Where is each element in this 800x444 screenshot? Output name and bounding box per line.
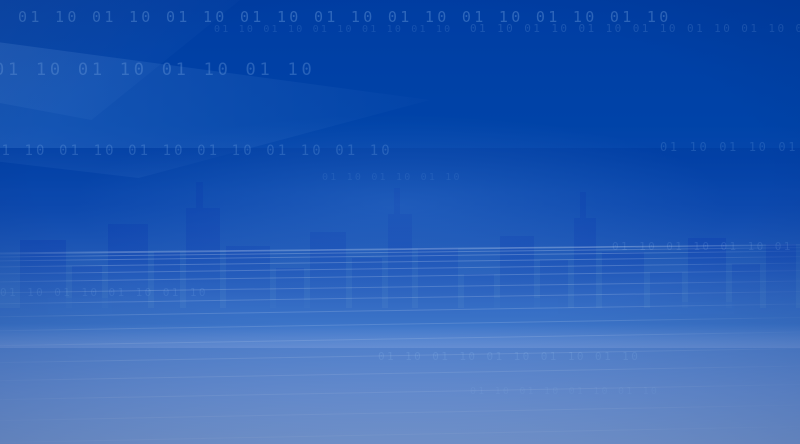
grid-line-4 (0, 347, 800, 364)
grid-line-16 (0, 244, 800, 254)
grid-line-7 (0, 302, 800, 317)
headline-line-2-prefix: 区域 (37, 175, 132, 226)
binary-pattern-layer: 01 10 01 10 01 10 01 10 01 10 01 10 01 1… (0, 0, 800, 444)
grid-line-13 (0, 250, 800, 262)
headline-line-1: 宁夏系统构建 (235, 78, 565, 132)
headline-line-2: 区域 经济高质量发展 新格局 (37, 160, 763, 226)
headline-block: 宁夏系统构建 区域 经济高质量发展 新格局 政策体系 (0, 0, 800, 444)
grid-line-15 (0, 244, 800, 255)
headline-line-2-suffix: 新格局 (620, 175, 762, 226)
binary-row-0: 01 10 01 10 01 10 01 10 01 10 01 10 01 1… (18, 8, 672, 26)
light-wedge-primary (0, 28, 430, 178)
headline-line-2-emphasis: 经济高质量发展 (144, 160, 608, 226)
binary-row-8: 01 10 01 10 01 10 01 10 01 10 (378, 350, 640, 363)
grid-line-14 (0, 246, 800, 257)
backdrop-fade-overlay (0, 148, 800, 348)
grid-line-11 (0, 262, 800, 275)
binary-row-7: 01 10 01 10 01 10 01 10 (0, 286, 208, 299)
grid-line-10 (0, 270, 800, 284)
city-skyline-backdrop (0, 148, 800, 348)
grid-line-0 (0, 425, 800, 444)
grid-line-1 (0, 404, 800, 422)
grid-line-9 (0, 279, 800, 293)
light-wedge-secondary (0, 0, 240, 120)
headline-line-3: 政策体系 (293, 252, 507, 304)
binary-row-10: 01 10 01 10 01 10 (322, 172, 462, 183)
binary-row-4: 01 10 01 10 01 10 01 10 01 10 (214, 24, 452, 35)
vignette-overlay (0, 0, 800, 444)
grid-line-8 (0, 290, 800, 305)
binary-row-1: 01 10 01 10 01 10 01 10 (0, 60, 315, 80)
perspective-grid-lines (0, 254, 800, 444)
grid-line-5 (0, 331, 800, 347)
grid-line-12 (0, 255, 800, 268)
grid-line-2 (0, 384, 800, 402)
grid-line-3 (0, 365, 800, 382)
headline-glow (20, 100, 780, 310)
binary-row-9: 01 10 01 10 01 10 01 10 (470, 386, 659, 397)
binary-row-6: 01 10 01 10 01 10 01 10 01 10 (612, 240, 800, 253)
binary-row-3: 01 10 01 10 01 10 01 10 01 10 01 10 (0, 143, 393, 159)
grid-line-6 (0, 316, 800, 332)
policy-banner: 01 10 01 10 01 10 01 10 01 10 01 10 01 1… (0, 0, 800, 444)
binary-row-5: 01 10 01 10 01 10 01 10 (660, 140, 800, 154)
binary-row-2: 01 10 01 10 01 10 01 10 01 10 01 10 01 1… (470, 22, 800, 35)
